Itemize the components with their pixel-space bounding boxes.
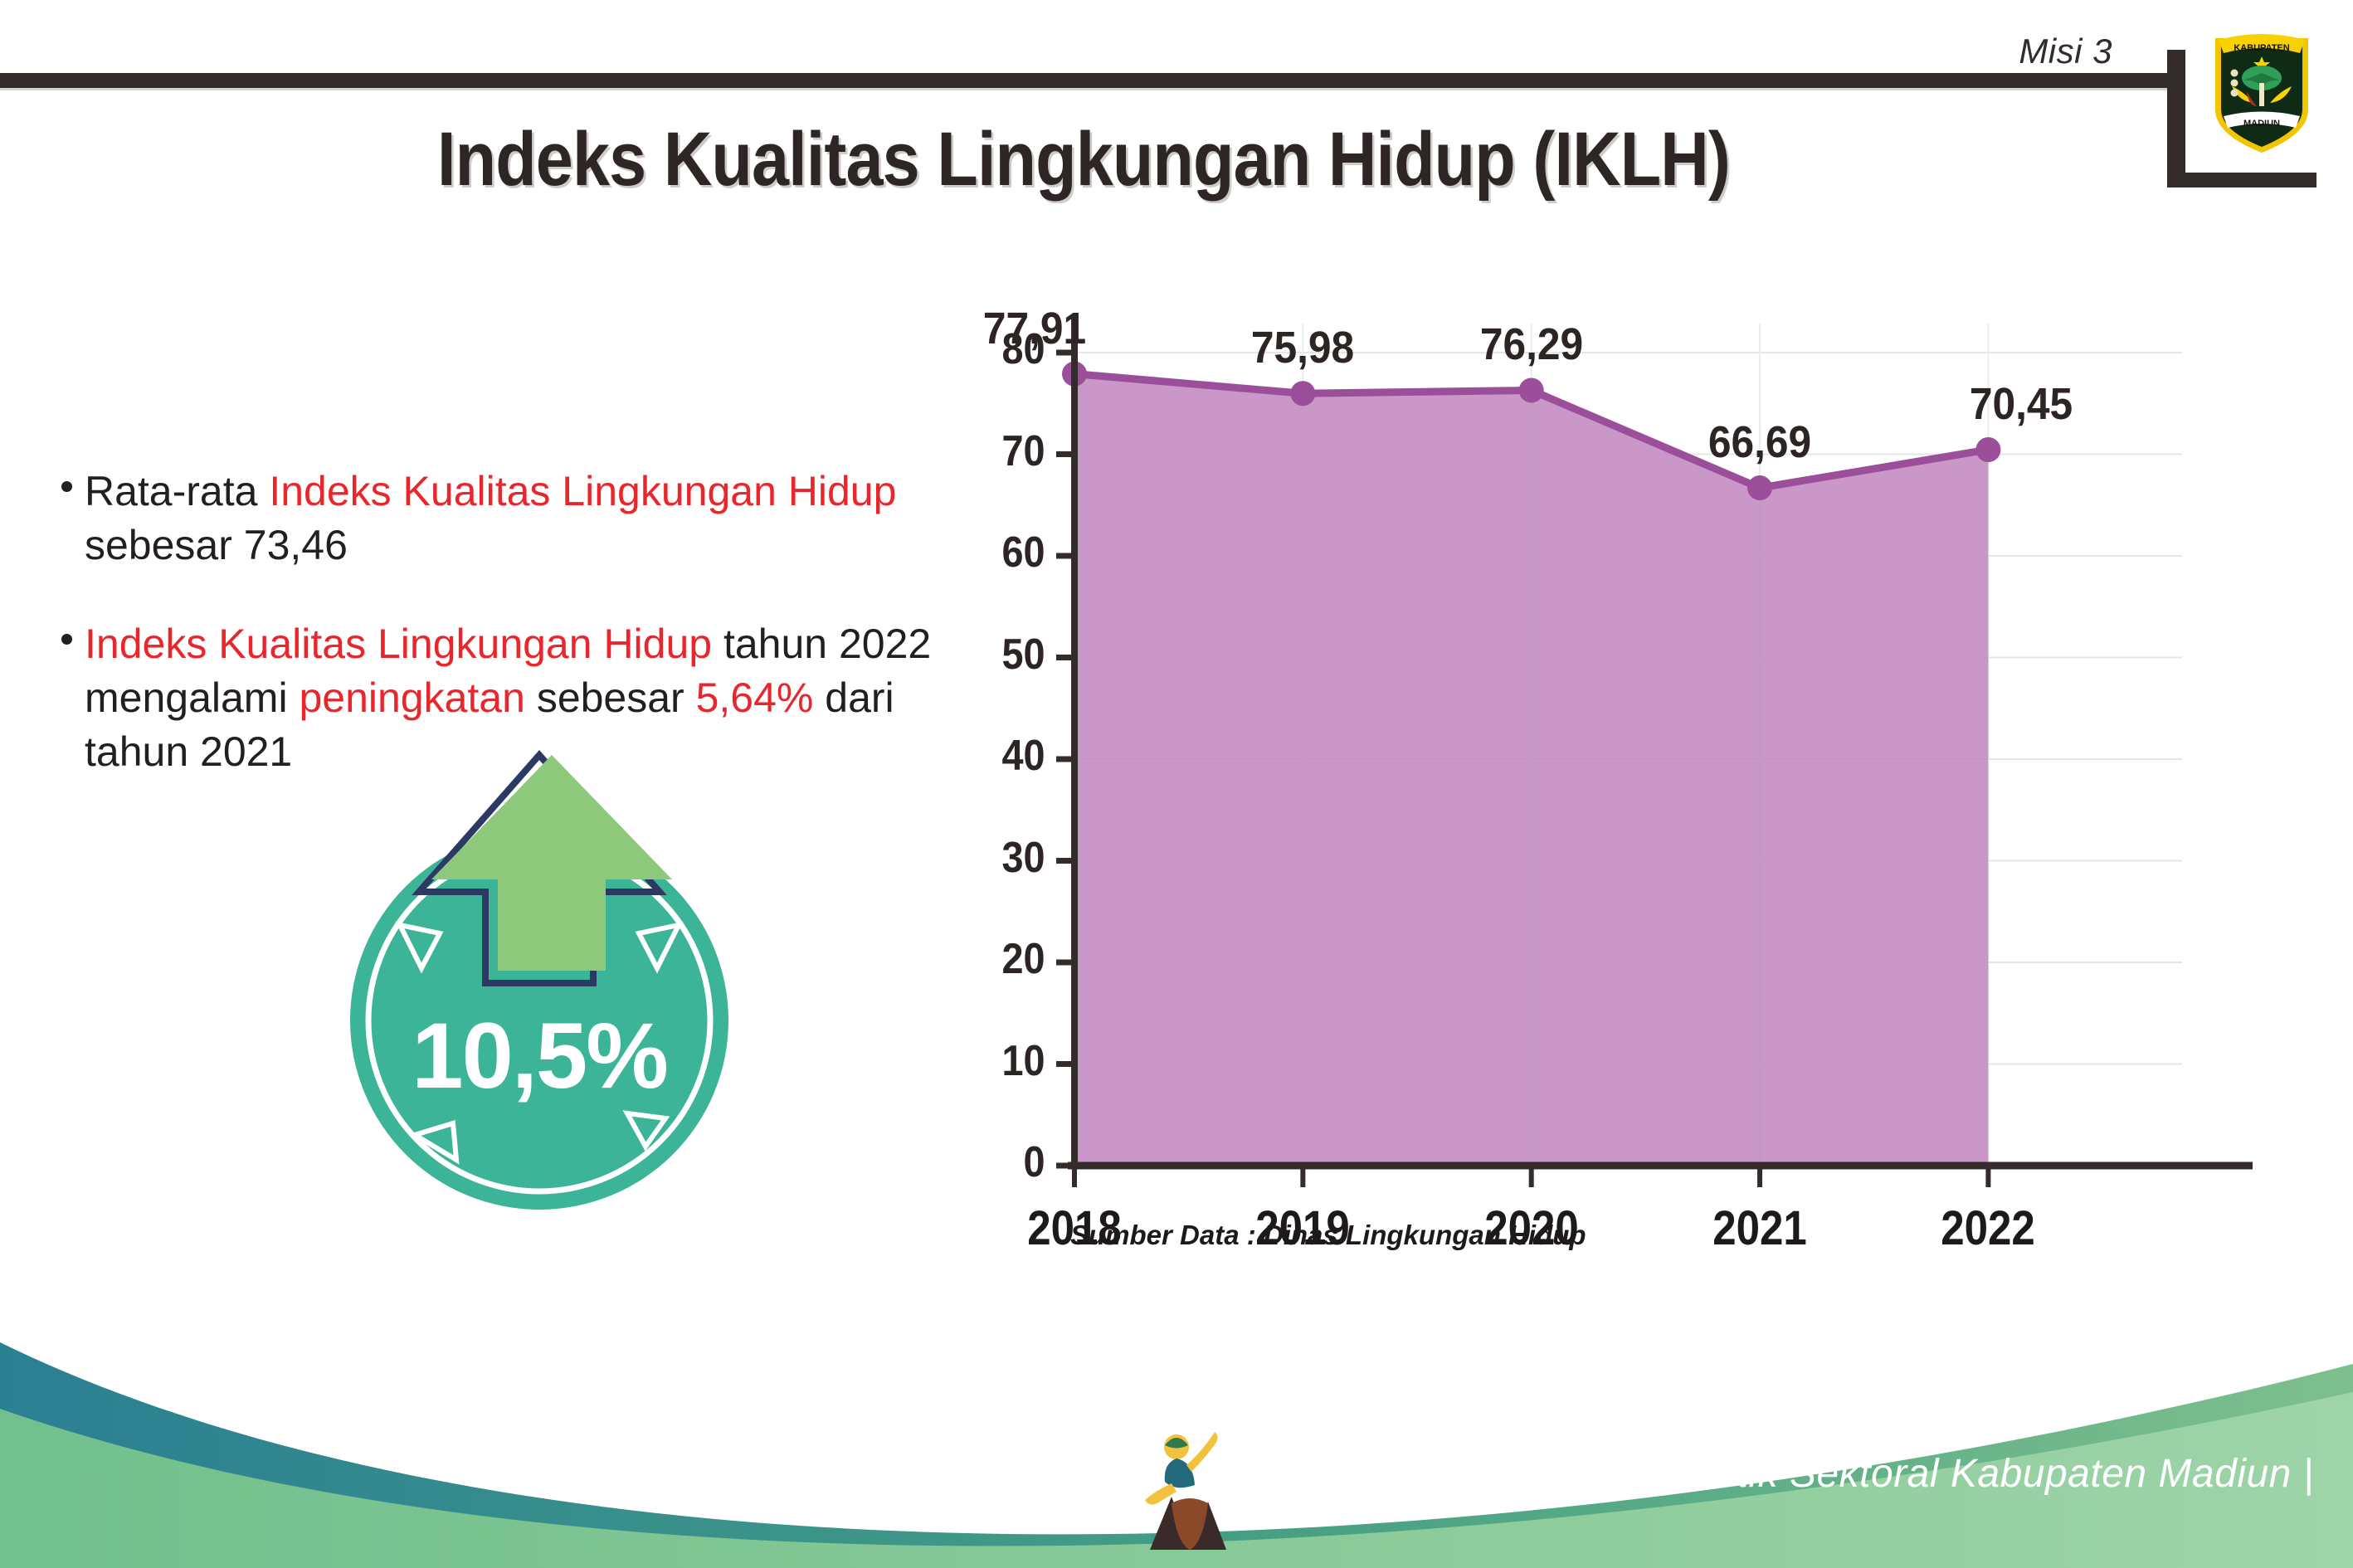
x-axis-tick-label: 2021 <box>1676 1200 1844 1256</box>
bullet-highlight: peningkatan <box>299 674 524 721</box>
chart-fill-area <box>1074 374 1988 1166</box>
y-axis-tick-label: 60 <box>963 528 1045 577</box>
bullet-highlight: Indeks Kualitas Lingkungan Hidup <box>85 621 712 667</box>
y-axis-tick-label: 70 <box>963 426 1045 476</box>
header-rule <box>0 73 2167 88</box>
data-point-label: 77,91 <box>947 303 1123 354</box>
data-point-label: 76,29 <box>1444 319 1620 370</box>
badge-value: 10,5% <box>324 1002 755 1109</box>
iklh-area-chart: 01020304050607080 20182019202020212022 7… <box>954 274 2298 1303</box>
y-axis-tick-label: 0 <box>963 1137 1045 1187</box>
header-bracket-vertical <box>2167 50 2185 187</box>
bullet-text: Rata-rata Indeks Kualitas Lingkungan Hid… <box>65 465 952 572</box>
header-bracket-foot <box>2167 173 2316 187</box>
footer-text: Media Infografis Data Statistik Sektoral… <box>1236 1451 2314 1497</box>
y-axis-tick-label: 50 <box>963 630 1045 679</box>
y-axis-tick-label: 40 <box>963 731 1045 781</box>
x-axis-tick-label: 2022 <box>1904 1200 2072 1256</box>
y-axis-tick-label: 10 <box>963 1036 1045 1086</box>
page-title: Indeks Kualitas Lingkungan Hidup (IKLH) <box>130 116 2038 203</box>
bullet-highlight: Indeks Kualitas Lingkungan Hidup <box>269 468 896 514</box>
list-item: Rata-rata Indeks Kualitas Lingkungan Hid… <box>65 465 952 572</box>
statistics-figure-icon <box>1143 1425 1235 1550</box>
crest-bottom-text: MADIUN <box>2243 119 2280 129</box>
data-point-label: 70,45 <box>1934 378 2110 430</box>
bullet-dot-icon <box>61 634 72 645</box>
data-point-label: 66,69 <box>1672 416 1848 468</box>
mission-label: Misi 3 <box>2019 32 2112 71</box>
y-axis-tick-label: 20 <box>963 934 1045 984</box>
y-axis-tick-label: 30 <box>963 833 1045 883</box>
bullet-dot-icon <box>61 481 72 492</box>
bullet-plain: sebesar <box>525 674 696 721</box>
bullet-plain: sebesar 73,46 <box>85 522 348 568</box>
bullet-plain: Rata-rata <box>85 468 269 514</box>
crest-top-text: KABUPATEN <box>2234 43 2289 53</box>
bullet-highlight: 5,64% <box>696 674 814 721</box>
badge-graphic <box>324 747 755 1211</box>
kabupaten-madiun-crest-icon: KABUPATEN MADIUN <box>2207 23 2316 156</box>
chart-source-note: Sumber Data : Dinas Lingkungan Hidup <box>1070 1220 1586 1251</box>
growth-badge: 10,5% <box>324 747 755 1211</box>
data-point-label: 75,98 <box>1215 322 1391 373</box>
